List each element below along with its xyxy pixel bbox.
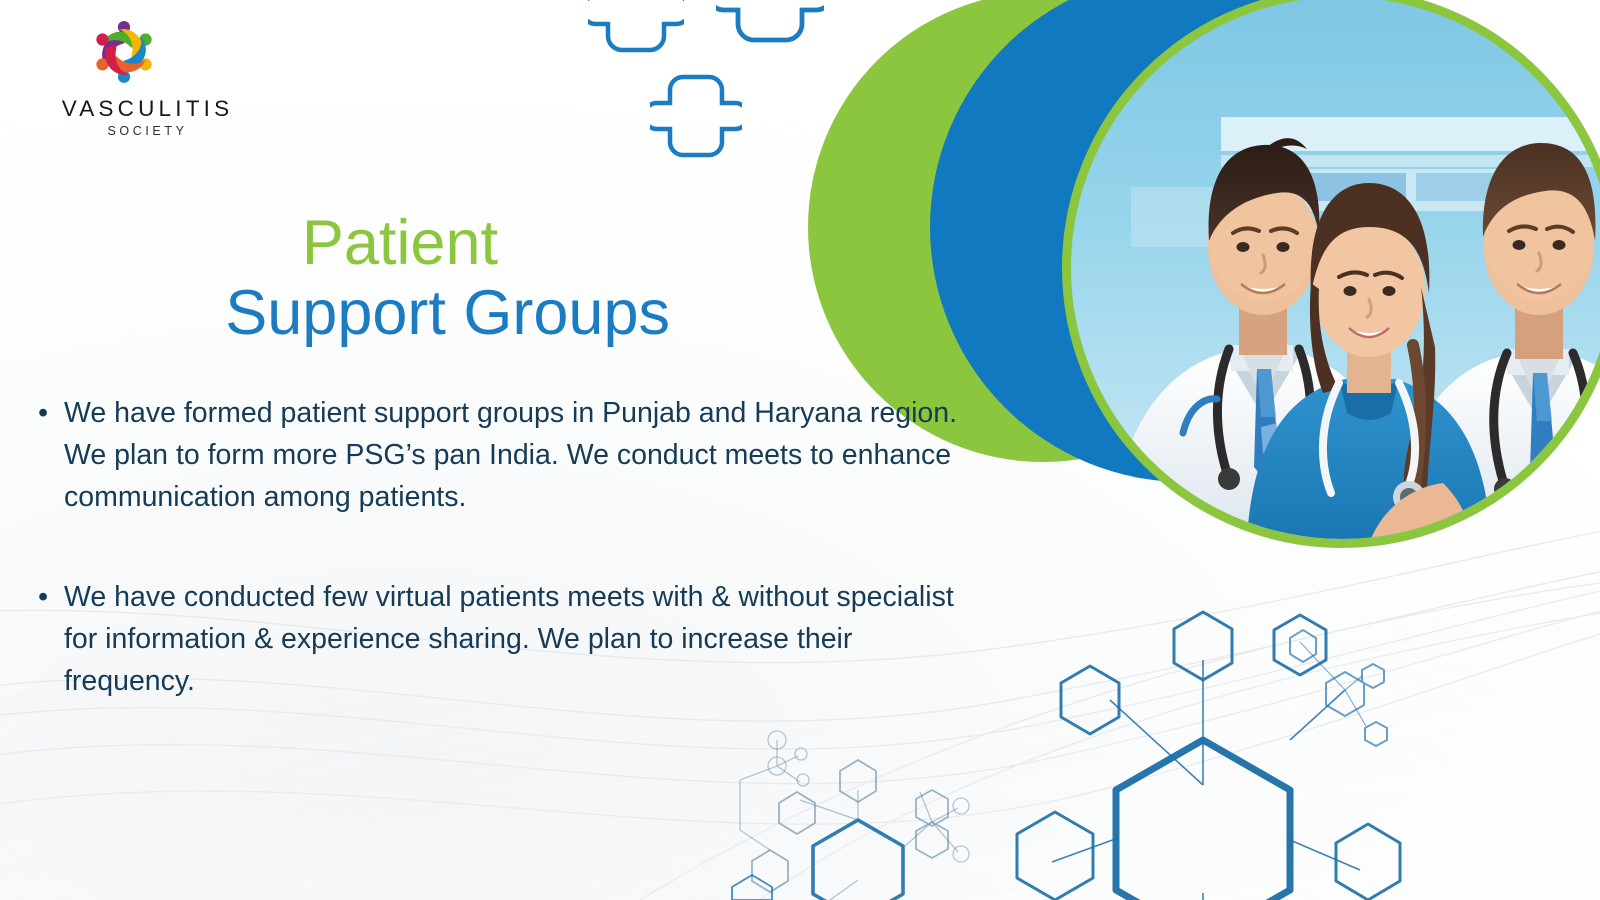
logo-wordmark: VASCULITIS xyxy=(40,96,255,122)
medical-cross-top-left-icon xyxy=(588,0,684,58)
title-line-patient: Patient xyxy=(0,212,700,275)
bullet-list: • We have formed patient support groups … xyxy=(38,392,988,760)
bullet-glyph: • xyxy=(38,392,64,434)
medical-cross-middle-icon xyxy=(650,70,742,162)
medical-team-photo xyxy=(1071,0,1600,539)
title-line-support-groups: Support Groups xyxy=(0,282,700,345)
slide-canvas: VASCULITIS SOCIETY Patient Support Group… xyxy=(0,0,1600,900)
list-item: • We have conducted few virtual patients… xyxy=(38,576,988,702)
bullet-text: We have conducted few virtual patients m… xyxy=(64,576,988,702)
list-item: • We have formed patient support groups … xyxy=(38,392,988,518)
medical-cross-top-right-icon xyxy=(716,0,824,48)
page-title: Patient Support Groups xyxy=(0,212,700,345)
logo-sub-wordmark: SOCIETY xyxy=(40,124,255,138)
bullet-text: We have formed patient support groups in… xyxy=(64,392,988,518)
bullet-glyph: • xyxy=(38,576,64,618)
pinwheel-figures-icon xyxy=(76,8,172,94)
vasculitis-society-logo: VASCULITIS SOCIETY xyxy=(40,8,255,148)
